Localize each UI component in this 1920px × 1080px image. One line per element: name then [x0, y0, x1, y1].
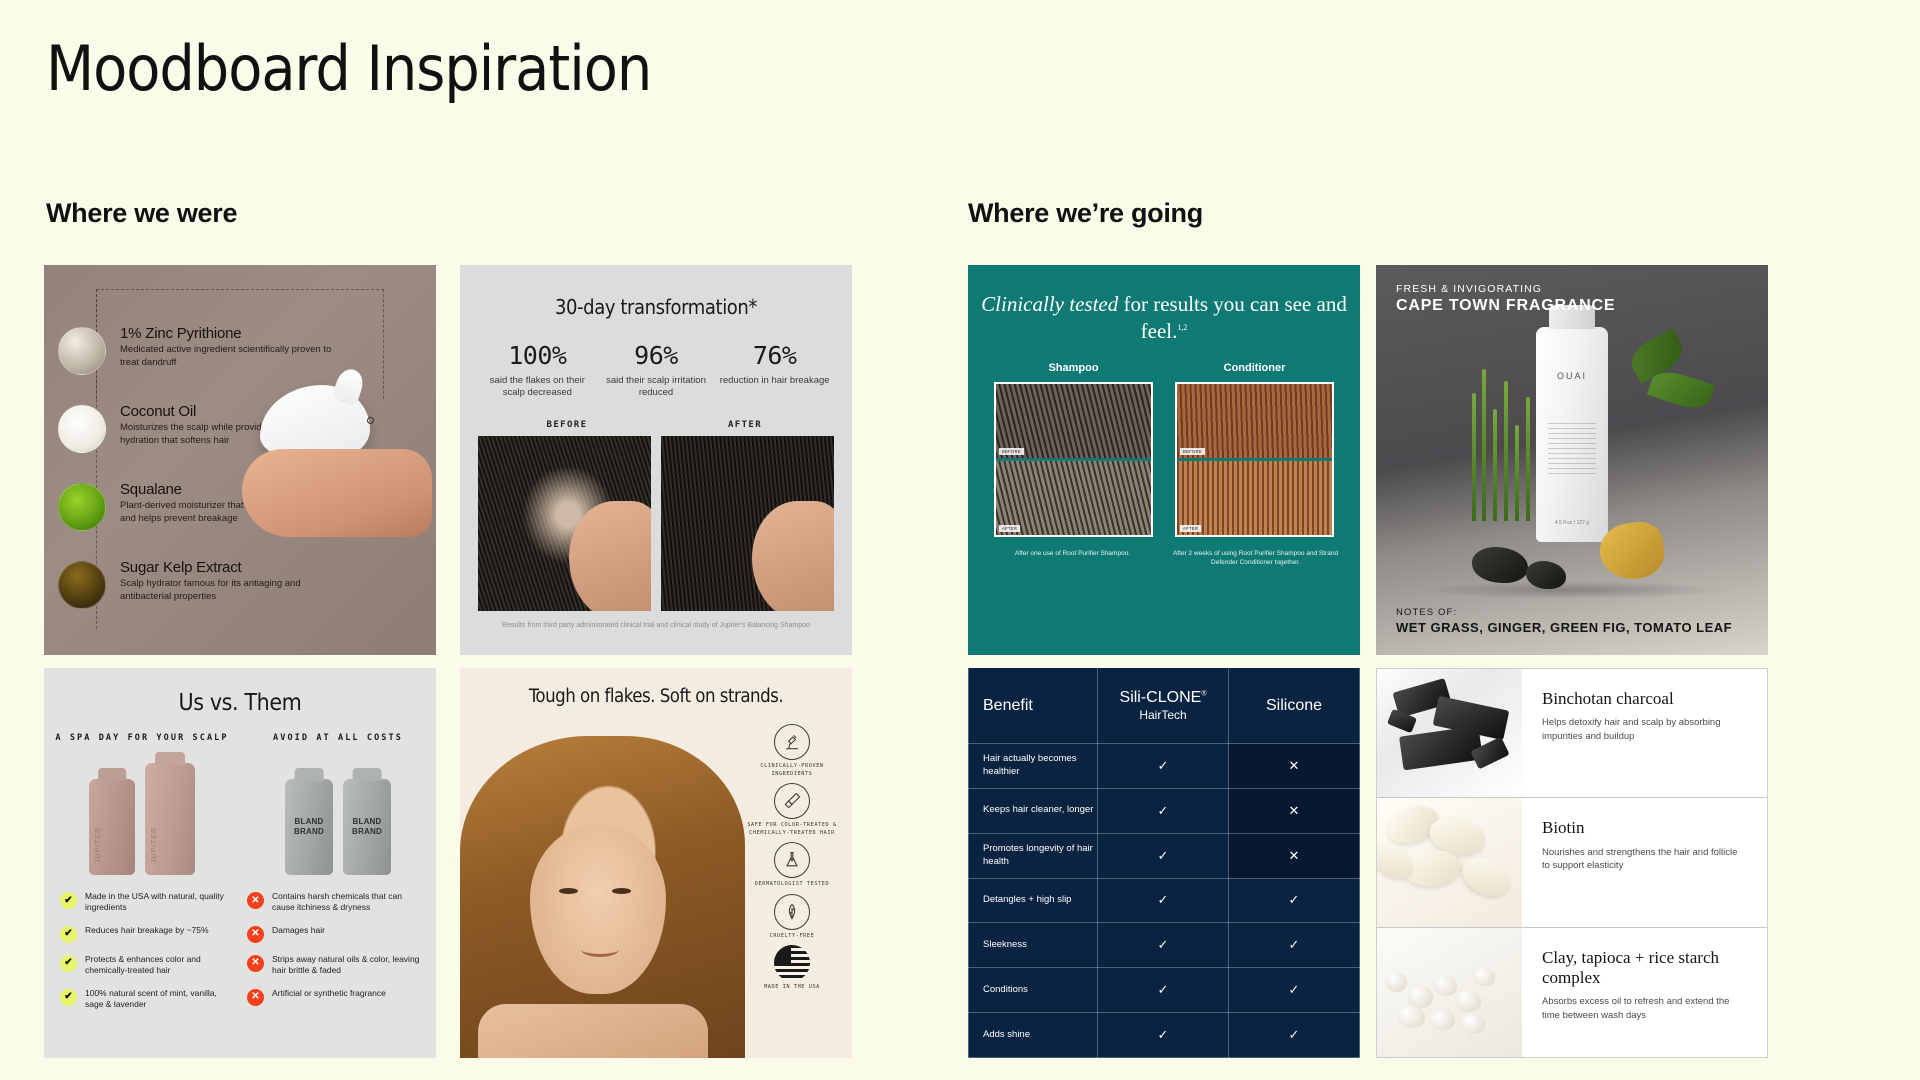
after-tag: AFTER — [1180, 525, 1201, 532]
green-fig-leaf-prop — [1647, 366, 1715, 414]
list-item: Biotin Nourishes and strengthens the hai… — [1377, 798, 1767, 927]
header-product-name: Sili-CLONE — [1120, 689, 1202, 706]
row-benefit: Hair actually becomes healthier — [969, 744, 1098, 789]
row-product-check-icon: ✓ — [1098, 1013, 1229, 1058]
ingredient-swatch-squalane-icon — [58, 483, 106, 531]
clinical-captions: After one use of Root Purifier Shampoo. … — [968, 549, 1360, 569]
row-benefit: Keeps hair cleaner, longer — [969, 788, 1098, 833]
table-row: Detangles + high slip ✓ ✓ — [969, 878, 1360, 923]
conditioner-label: Conditioner — [1175, 362, 1334, 374]
bland-bottle-1: BLAND BRAND — [285, 779, 333, 875]
usa-flag-icon — [774, 945, 810, 981]
subhead-left: A SPA DAY FOR YOUR SCALP — [44, 733, 240, 743]
leaf-icon — [774, 894, 810, 930]
badge-item: CLINICALLY-PROVEN INGREDIENTS — [746, 724, 838, 778]
row-competitor-cross-icon: ✕ — [1229, 833, 1360, 878]
fragrance-title: CAPE TOWN FRAGRANCE — [1396, 297, 1615, 315]
con-text: Strips away natural oils & color, leavin… — [272, 954, 420, 977]
clay-image — [1377, 928, 1522, 1057]
model-eye-left — [559, 888, 578, 894]
hand-in-photo — [569, 501, 651, 611]
list-item: ✕ Strips away natural oils & color, leav… — [247, 954, 420, 977]
badge-item: SAFE FOR COLOR-TREATED & CHEMICALLY-TREA… — [746, 783, 838, 837]
product-size-label: 4.5 fl oz / 127 g — [1536, 520, 1608, 526]
transformation-footnote: Results from third party administrated c… — [460, 622, 852, 629]
row-product-check-icon: ✓ — [1098, 744, 1229, 789]
page-title: Moodboard Inspiration — [46, 38, 651, 100]
badge-label: CLINICALLY-PROVEN INGREDIENTS — [746, 763, 838, 778]
list-item: ✕ Contains harsh chemicals that can caus… — [247, 891, 420, 914]
charcoal-image — [1377, 669, 1522, 797]
notes-value: WET GRASS, GINGER, GREEN FIG, TOMATO LEA… — [1396, 620, 1732, 635]
row-benefit: Adds shine — [969, 1013, 1098, 1058]
cross-icon: ✕ — [247, 989, 264, 1006]
list-item: ✕ Damages hair — [247, 925, 420, 943]
bottle-comparison-images: JUPITER JUPITER BLAND BRAND BLAND BRAND — [44, 755, 436, 875]
stat-caption: said their scalp irritation reduced — [597, 375, 715, 400]
table-row: Adds shine ✓ ✓ — [969, 1013, 1360, 1058]
bland-line-1: BLAND — [295, 817, 324, 827]
conditioner-before-after: BEFORE AFTER — [1175, 382, 1334, 537]
ingredient-desc: Medicated active ingredient scientifical… — [120, 344, 340, 369]
list-item: ✔ Made in the USA with natural, quality … — [60, 891, 233, 914]
conditioner-after-photo: AFTER — [1177, 461, 1332, 535]
transformation-title: 30-day transformation* — [460, 295, 852, 319]
flask-icon — [774, 842, 810, 878]
after-tag: AFTER — [999, 525, 1020, 532]
finger — [242, 449, 432, 537]
pro-text: Reduces hair breakage by ~75% — [85, 925, 209, 936]
bottle-brand-label: JUPITER — [151, 827, 158, 863]
product-can-image: OUAI 4.5 fl oz / 127 g — [1536, 327, 1608, 542]
table-row: Keeps hair cleaner, longer ✓ ✕ — [969, 788, 1360, 833]
bland-bottle-label: BLAND BRAND — [343, 779, 391, 875]
header-competitor: Silicone — [1229, 668, 1360, 744]
header-product-sub: HairTech — [1102, 708, 1224, 722]
stat-item: 76% reduction in hair breakage — [716, 341, 834, 400]
subhead-right: AVOID AT ALL COSTS — [240, 733, 436, 743]
stat-value: 96% — [597, 341, 715, 370]
product-shadow — [1416, 581, 1728, 599]
us-vs-them-subheads: A SPA DAY FOR YOUR SCALP AVOID AT ALL CO… — [44, 733, 436, 743]
photo-before-scalp — [478, 436, 651, 611]
before-label: BEFORE — [478, 420, 656, 430]
ingredient-desc: Scalp hydrator famous for its antiaging … — [120, 578, 340, 603]
shampoo-after-photo: AFTER — [996, 461, 1151, 535]
ingredient-desc: Absorbs excess oil to refresh and extend… — [1542, 995, 1745, 1023]
list-item: ✔ 100% natural scent of mint, vanilla, s… — [60, 988, 233, 1011]
list-item: Clay, tapioca + rice starch complex Abso… — [1377, 928, 1767, 1057]
grass-prop — [1468, 361, 1538, 521]
ingredient-desc: Nourishes and strengthens the hair and f… — [1542, 846, 1745, 874]
pros-column: ✔ Made in the USA with natural, quality … — [60, 891, 233, 1022]
microscope-icon — [774, 724, 810, 760]
pro-text: Made in the USA with natural, quality in… — [85, 891, 233, 914]
ingredient-swatch-coconut-icon — [58, 405, 106, 453]
row-benefit: Promotes longevity of hair health — [969, 833, 1098, 878]
row-competitor-check-icon: ✓ — [1229, 923, 1360, 968]
callout-dot-icon — [367, 417, 374, 424]
ingredient-name: Clay, tapioca + rice starch complex — [1542, 948, 1745, 989]
stat-value: 76% — [716, 341, 834, 370]
row-product-check-icon: ✓ — [1098, 788, 1229, 833]
jupiter-bottle-conditioner: JUPITER — [145, 763, 195, 875]
headline-rest: for results you can see and feel. — [1118, 292, 1347, 343]
paintbrush-icon — [774, 783, 810, 819]
list-item: ✔ Protects & enhances color and chemical… — [60, 954, 233, 977]
list-item: ✕ Artificial or synthetic fragrance — [247, 988, 420, 1006]
list-item: 1% Zinc Pyrithione Medicated active ingr… — [58, 325, 358, 387]
ingredient-desc: Helps detoxify hair and scalp by absorbi… — [1542, 716, 1745, 744]
badge-item: MADE IN THE USA — [764, 945, 820, 992]
model-face — [530, 824, 666, 994]
card-30-day-transformation[interactable]: 30-day transformation* 100% said the fla… — [460, 265, 852, 655]
cons-column: ✕ Contains harsh chemicals that can caus… — [247, 891, 420, 1022]
tough-headline: Tough on flakes. Soft on strands. — [460, 686, 852, 707]
con-text: Damages hair — [272, 925, 325, 936]
cross-icon: ✕ — [247, 955, 264, 972]
card-ingredients-breakdown[interactable]: 1% Zinc Pyrithione Medicated active ingr… — [44, 265, 436, 655]
check-icon: ✔ — [60, 989, 77, 1006]
stat-value: 100% — [478, 341, 596, 370]
header-product: Sili-CLONE® HairTech — [1098, 668, 1229, 744]
bland-line-2: BRAND — [294, 827, 324, 837]
shampoo-column: Shampoo BEFORE AFTER — [994, 362, 1153, 537]
bland-bottle-2: BLAND BRAND — [343, 779, 391, 875]
before-after-photos — [460, 430, 852, 611]
product-label-text-block — [1548, 423, 1596, 477]
ingredient-name: Biotin — [1542, 818, 1745, 838]
model-smile — [581, 942, 619, 957]
card-ingredient-stack[interactable]: Binchotan charcoal Helps detoxify hair a… — [1376, 668, 1768, 1058]
table-row: Promotes longevity of hair health ✓ ✕ — [969, 833, 1360, 878]
badge-item: CRUELTY-FREE — [770, 894, 815, 941]
hand-with-foam-image — [242, 385, 432, 565]
stat-caption: reduction in hair breakage — [716, 375, 834, 387]
before-tag: BEFORE — [1180, 448, 1205, 455]
fragrance-header: FRESH & INVIGORATING CAPE TOWN FRAGRANCE — [1396, 283, 1615, 315]
shampoo-caption: After one use of Root Purifier Shampoo. — [988, 549, 1157, 569]
clinical-headline: Clinically tested for results you can se… — [968, 291, 1360, 346]
con-text: Contains harsh chemicals that can cause … — [272, 891, 420, 914]
ingredient-text: Binchotan charcoal Helps detoxify hair a… — [1522, 669, 1767, 797]
headline-emphasis: Clinically tested — [981, 292, 1118, 316]
fragrance-eyebrow: FRESH & INVIGORATING — [1396, 283, 1615, 295]
row-product-check-icon: ✓ — [1098, 923, 1229, 968]
conditioner-caption: After 2 weeks of using Root Purifier Sha… — [1171, 549, 1340, 569]
us-vs-them-title: Us vs. Them — [44, 690, 436, 716]
bland-bottle-label: BLAND BRAND — [285, 779, 333, 875]
ingredient-text: Clay, tapioca + rice starch complex Abso… — [1522, 928, 1767, 1057]
moodboard-page: Moodboard Inspiration Where we were Wher… — [0, 0, 1920, 1080]
trust-badges: CLINICALLY-PROVEN INGREDIENTS SAFE FOR C… — [746, 724, 838, 992]
badge-item: DERMATOLOGIST TESTED — [755, 842, 829, 889]
table-row: Conditions ✓ ✓ — [969, 968, 1360, 1013]
row-competitor-cross-icon: ✕ — [1229, 788, 1360, 833]
row-competitor-check-icon: ✓ — [1229, 968, 1360, 1013]
stat-item: 100% said the flakes on their scalp decr… — [478, 341, 596, 400]
row-product-check-icon: ✓ — [1098, 833, 1229, 878]
ingredient-text: Biotin Nourishes and strengthens the hai… — [1522, 798, 1767, 926]
before-tag: BEFORE — [999, 448, 1024, 455]
check-icon: ✔ — [60, 955, 77, 972]
list-item: Sugar Kelp Extract Scalp hydrator famous… — [58, 559, 358, 621]
column-heading-future: Where we’re going — [968, 198, 1203, 229]
list-item: ✔ Reduces hair breakage by ~75% — [60, 925, 233, 943]
row-benefit: Detangles + high slip — [969, 878, 1098, 923]
table-header-row: Benefit Sili-CLONE® HairTech Silicone — [969, 668, 1360, 744]
row-competitor-cross-icon: ✕ — [1229, 744, 1360, 789]
bland-line-1: BLAND — [353, 817, 382, 827]
before-after-labels: BEFORE AFTER — [460, 420, 852, 430]
bland-line-2: BRAND — [352, 827, 382, 837]
jupiter-bottles: JUPITER JUPITER — [44, 755, 240, 875]
photo-after-scalp — [661, 436, 834, 611]
ingredient-name: 1% Zinc Pyrithione — [120, 325, 340, 342]
row-product-check-icon: ✓ — [1098, 968, 1229, 1013]
shampoo-before-photo: BEFORE — [996, 384, 1151, 458]
shampoo-label: Shampoo — [994, 362, 1153, 374]
conditioner-before-photo: BEFORE — [1177, 384, 1332, 458]
charcoal-rock-prop-2 — [1526, 561, 1566, 589]
jupiter-bottle-shampoo: JUPITER — [89, 779, 135, 875]
card-clinically-tested[interactable]: Clinically tested for results you can se… — [968, 265, 1360, 655]
badge-label: DERMATOLOGIST TESTED — [755, 881, 829, 889]
comparison-table: Benefit Sili-CLONE® HairTech Silicone Ha… — [968, 668, 1360, 1058]
model-portrait-image — [460, 736, 745, 1058]
table-row: Hair actually becomes healthier ✓ ✕ — [969, 744, 1360, 789]
pro-text: 100% natural scent of mint, vanilla, sag… — [85, 988, 233, 1011]
pros-cons-lists: ✔ Made in the USA with natural, quality … — [44, 891, 436, 1022]
product-brand-label: OUAI — [1536, 371, 1608, 381]
list-item: Binchotan charcoal Helps detoxify hair a… — [1377, 669, 1767, 798]
row-competitor-check-icon: ✓ — [1229, 1013, 1360, 1058]
transformation-stats: 100% said the flakes on their scalp decr… — [460, 341, 852, 400]
check-icon: ✔ — [60, 926, 77, 943]
stat-caption: said the flakes on their scalp decreased — [478, 375, 596, 400]
shampoo-before-after: BEFORE AFTER — [994, 382, 1153, 537]
badge-label: SAFE FOR COLOR-TREATED & CHEMICALLY-TREA… — [746, 822, 838, 837]
header-benefit: Benefit — [969, 668, 1098, 744]
badge-label: MADE IN THE USA — [764, 984, 820, 992]
model-arm — [478, 1004, 708, 1058]
row-product-check-icon: ✓ — [1098, 878, 1229, 923]
card-cape-town-fragrance[interactable]: OUAI 4.5 fl oz / 127 g FRESH & INVIGORAT… — [1376, 265, 1768, 655]
bland-bottles: BLAND BRAND BLAND BRAND — [240, 755, 436, 875]
column-heading-past: Where we were — [46, 198, 237, 229]
biotin-image — [1377, 798, 1522, 926]
registered-mark-icon: ® — [1201, 691, 1206, 698]
ingredient-name: Binchotan charcoal — [1542, 689, 1745, 709]
row-competitor-check-icon: ✓ — [1229, 878, 1360, 923]
model-eye-right — [612, 888, 631, 894]
row-benefit: Conditions — [969, 968, 1098, 1013]
after-label: AFTER — [656, 420, 834, 430]
table-row: Sleekness ✓ ✓ — [969, 923, 1360, 968]
charcoal-rock-prop — [1472, 547, 1528, 583]
ingredient-swatch-kelp-icon — [58, 561, 106, 609]
badge-label: CRUELTY-FREE — [770, 933, 815, 941]
hand-in-photo — [752, 501, 834, 611]
headline-footnote-marker: 1,2 — [1177, 323, 1187, 332]
cross-icon: ✕ — [247, 892, 264, 909]
fragrance-notes: NOTES OF: WET GRASS, GINGER, GREEN FIG, … — [1396, 607, 1732, 635]
stat-item: 96% said their scalp irritation reduced — [597, 341, 715, 400]
bottle-brand-label: JUPITER — [95, 827, 102, 863]
ingredient-swatch-zinc-icon — [58, 327, 106, 375]
cross-icon: ✕ — [247, 926, 264, 943]
conditioner-column: Conditioner BEFORE AFTER — [1175, 362, 1334, 537]
check-icon: ✔ — [60, 892, 77, 909]
pro-text: Protects & enhances color and chemically… — [85, 954, 233, 977]
card-siliclone-comparison[interactable]: Benefit Sili-CLONE® HairTech Silicone Ha… — [968, 668, 1360, 1058]
card-us-vs-them[interactable]: Us vs. Them A SPA DAY FOR YOUR SCALP AVO… — [44, 668, 436, 1058]
clinical-columns: Shampoo BEFORE AFTER Conditioner BEFORE … — [968, 362, 1360, 537]
notes-label: NOTES OF: — [1396, 607, 1732, 618]
row-benefit: Sleekness — [969, 923, 1098, 968]
card-tough-on-flakes[interactable]: Tough on flakes. Soft on strands. CLINIC… — [460, 668, 852, 1058]
con-text: Artificial or synthetic fragrance — [272, 988, 386, 999]
